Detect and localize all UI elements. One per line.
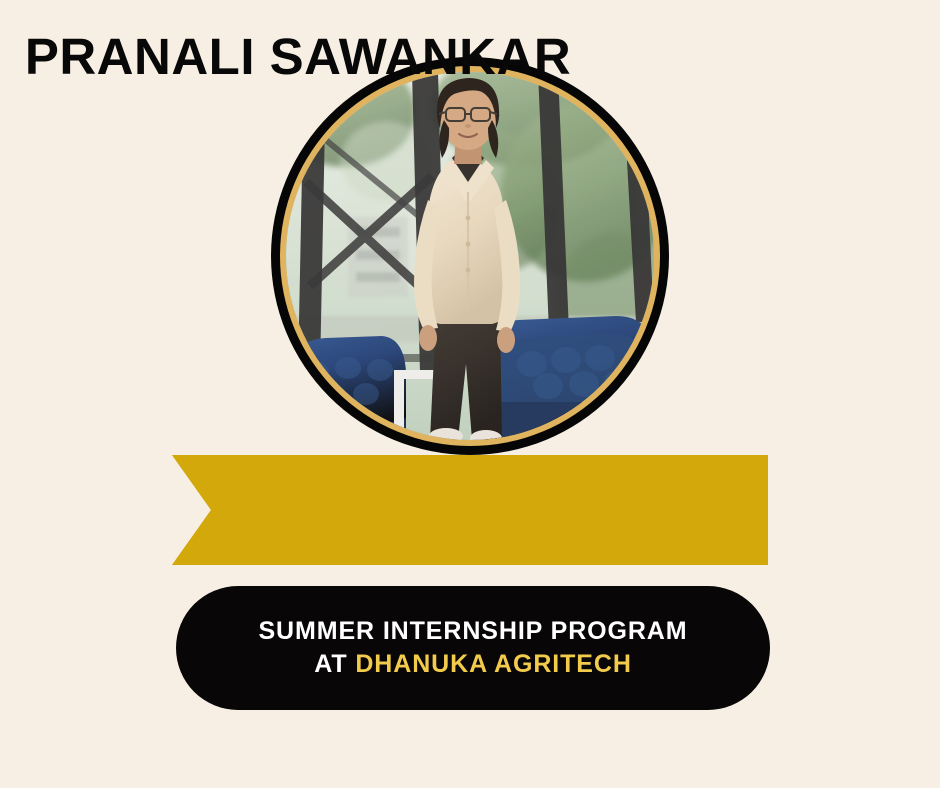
- portrait-gold-ring: [280, 66, 660, 446]
- portrait-photo-clip: [286, 72, 654, 440]
- portrait-photo: [286, 72, 654, 440]
- portrait-outer-ring: [271, 57, 669, 455]
- program-title: SUMMER INTERNSHIP PROGRAM: [258, 615, 687, 648]
- company-name: DHANUKA AGRITECH: [355, 650, 631, 678]
- program-company-line: AT DHANUKA AGRITECH: [314, 648, 632, 681]
- internship-announcement-poster: PRANALI SAWANKAR SUMMER INTERNSHIP PROGR…: [0, 0, 940, 788]
- program-subtitle-pill: SUMMER INTERNSHIP PROGRAM AT DHANUKA AGR…: [176, 586, 770, 710]
- name-banner-shape: [172, 455, 768, 565]
- name-banner: [172, 455, 768, 565]
- program-at-prefix: AT: [314, 650, 355, 678]
- person-name: PRANALI SAWANKAR: [0, 0, 596, 110]
